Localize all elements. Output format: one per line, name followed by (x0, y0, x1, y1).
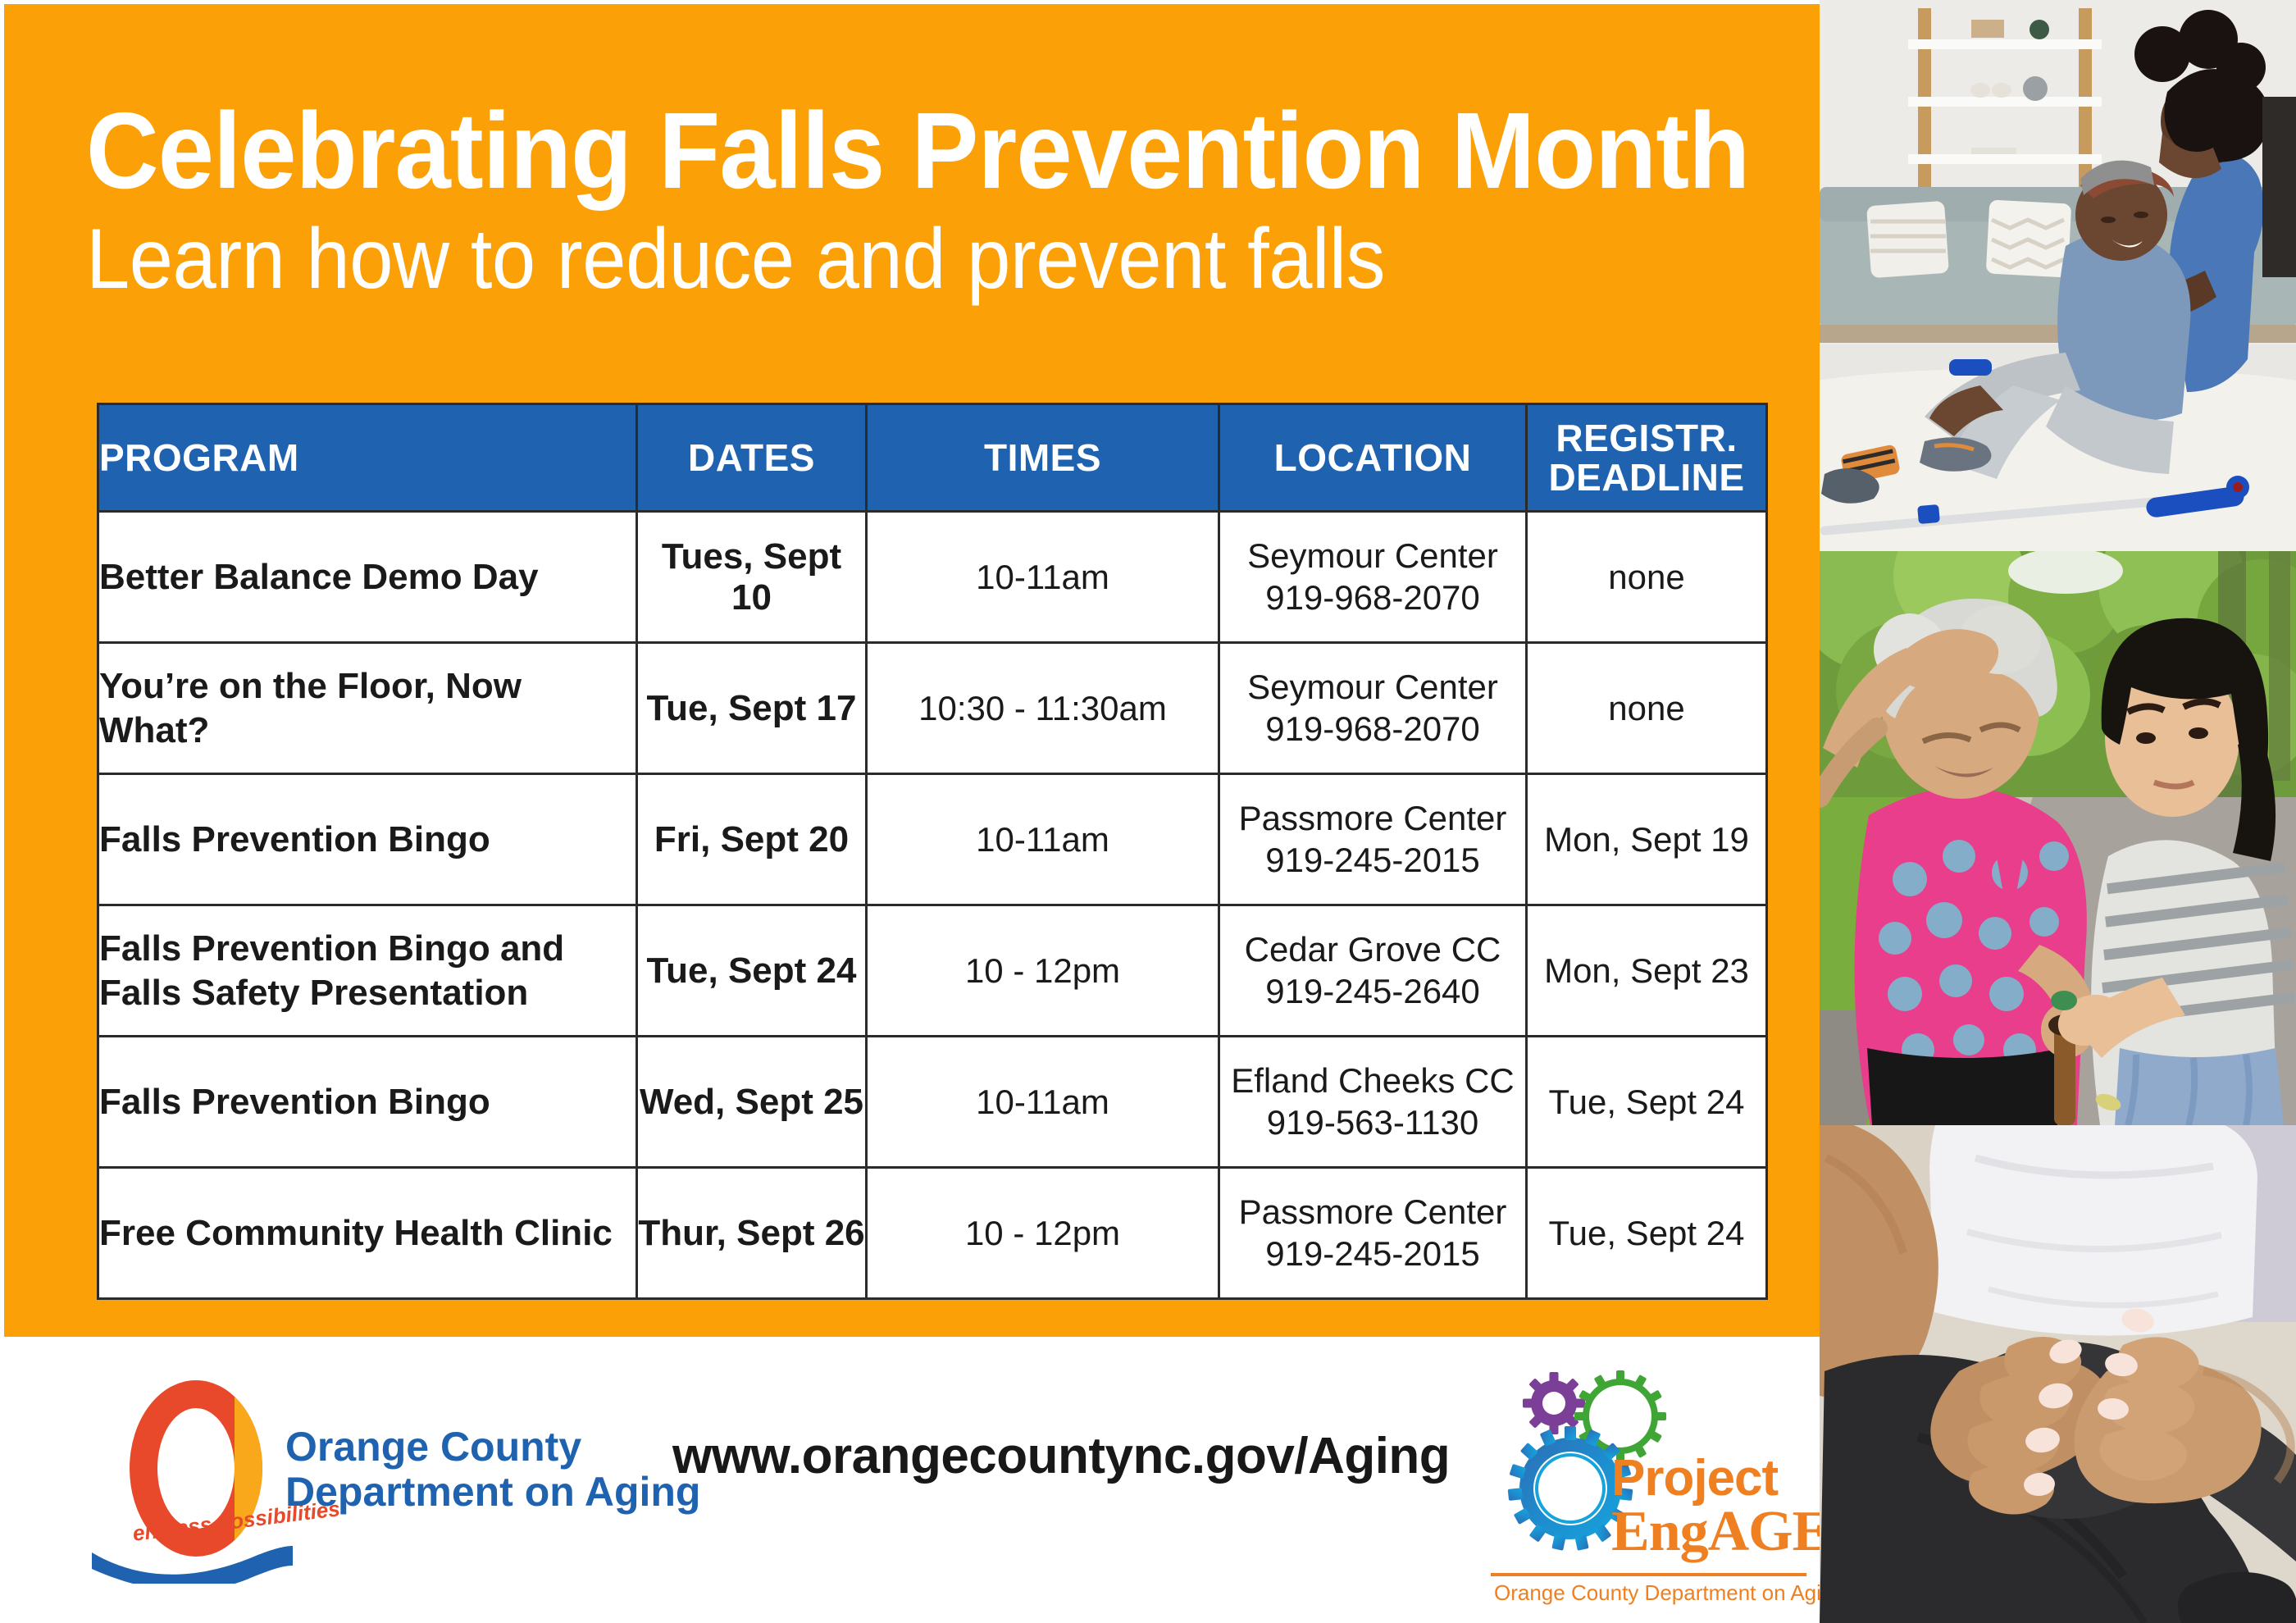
oc-wordmark-line-2: Department on Aging (285, 1470, 700, 1515)
table-row: Falls Prevention Bingo and Falls Safety … (98, 905, 1767, 1037)
project-engage-logo: Project EngAGE Orange County Department … (1476, 1357, 1820, 1603)
schedule-table-container: PROGRAM DATES TIMES LOCATION REGISTR. DE… (97, 403, 1765, 1300)
location-name: Passmore Center (1220, 798, 1525, 839)
location-phone: 919-968-2070 (1220, 577, 1525, 618)
person-holding-painful-knee-photo (1820, 1125, 2296, 1623)
cell-location: Seymour Center 919-968-2070 (1219, 512, 1527, 643)
cell-times: 10-11am (867, 512, 1219, 643)
cell-dates: Tue, Sept 17 (637, 643, 867, 774)
cell-deadline: Tue, Sept 24 (1527, 1168, 1767, 1299)
cell-location: Cedar Grove CC 919-245-2640 (1219, 905, 1527, 1037)
location-phone: 919-968-2070 (1220, 709, 1525, 750)
table-row: Falls Prevention Bingo Wed, Sept 25 10-1… (98, 1037, 1767, 1168)
cell-location: Seymour Center 919-968-2070 (1219, 643, 1527, 774)
table-header-row: PROGRAM DATES TIMES LOCATION REGISTR. DE… (98, 404, 1767, 512)
column-header-dates: DATES (637, 404, 867, 512)
cell-deadline: none (1527, 643, 1767, 774)
column-header-registration-deadline: REGISTR. DEADLINE (1527, 404, 1767, 512)
page-subtitle: Learn how to reduce and prevent falls (86, 213, 1633, 305)
caregiver-helping-fallen-woman-photo (1820, 0, 2296, 551)
photo-column (1820, 0, 2296, 1623)
engage-wordmark-line-2: EngAGE (1611, 1503, 1829, 1561)
location-name: Efland Cheeks CC (1220, 1060, 1525, 1101)
purple-gear-icon (1523, 1372, 1585, 1434)
deadline-header-line-1: REGISTR. (1528, 418, 1765, 458)
cell-times: 10-11am (867, 774, 1219, 905)
location-name: Seymour Center (1220, 667, 1525, 708)
cell-program: Falls Prevention Bingo (98, 1037, 637, 1168)
cell-times: 10 - 12pm (867, 1168, 1219, 1299)
orange-county-logo-wordmark: Orange County Department on Aging (285, 1425, 700, 1515)
table-row: Better Balance Demo Day Tues, Sept 10 10… (98, 512, 1767, 643)
cell-location: Efland Cheeks CC 919-563-1130 (1219, 1037, 1527, 1168)
cell-dates: Tue, Sept 24 (637, 905, 867, 1037)
engage-divider-rule (1491, 1573, 1806, 1576)
location-phone: 919-245-2015 (1220, 1233, 1525, 1274)
cell-deadline: Mon, Sept 23 (1527, 905, 1767, 1037)
location-phone: 919-563-1130 (1220, 1102, 1525, 1143)
cell-deadline: Mon, Sept 19 (1527, 774, 1767, 905)
location-name: Passmore Center (1220, 1192, 1525, 1233)
cell-location: Passmore Center 919-245-2015 (1219, 774, 1527, 905)
column-header-times: TIMES (867, 404, 1219, 512)
deadline-header-line-2: DEADLINE (1528, 458, 1765, 497)
cell-times: 10-11am (867, 1037, 1219, 1168)
blue-swoosh-icon (92, 1541, 293, 1584)
cell-dates: Fri, Sept 20 (637, 774, 867, 905)
events-schedule-table: PROGRAM DATES TIMES LOCATION REGISTR. DE… (97, 403, 1768, 1300)
location-name: Seymour Center (1220, 536, 1525, 577)
website-url[interactable]: www.orangecountync.gov/Aging (672, 1427, 1450, 1485)
orange-county-aging-logo: endless possibilities Orange County Depa… (115, 1357, 623, 1595)
location-phone: 919-245-2640 (1220, 971, 1525, 1012)
table-row: You’re on the Floor, Now What? Tue, Sept… (98, 643, 1767, 774)
column-header-location: LOCATION (1219, 404, 1527, 512)
cell-program: Falls Prevention Bingo (98, 774, 637, 905)
cell-program: You’re on the Floor, Now What? (98, 643, 637, 774)
cell-program: Better Balance Demo Day (98, 512, 637, 643)
cell-times: 10:30 - 11:30am (867, 643, 1219, 774)
cell-times: 10 - 12pm (867, 905, 1219, 1037)
location-phone: 919-245-2015 (1220, 840, 1525, 881)
cell-dates: Wed, Sept 25 (637, 1037, 867, 1168)
cell-program: Falls Prevention Bingo and Falls Safety … (98, 905, 637, 1037)
oc-wordmark-line-1: Orange County (285, 1425, 700, 1470)
engage-wordmark-line-1: Project (1611, 1454, 1829, 1503)
table-row: Falls Prevention Bingo Fri, Sept 20 10-1… (98, 774, 1767, 905)
table-header: PROGRAM DATES TIMES LOCATION REGISTR. DE… (98, 404, 1767, 512)
engage-logo-subtitle: Orange County Department on Aging (1494, 1580, 1814, 1606)
cell-deadline: none (1527, 512, 1767, 643)
table-row: Free Community Health Clinic Thur, Sept … (98, 1168, 1767, 1299)
cell-dates: Thur, Sept 26 (637, 1168, 867, 1299)
cell-program: Free Community Health Clinic (98, 1168, 637, 1299)
elderly-woman-with-cane-dizzy-photo (1820, 551, 2296, 1125)
falls-prevention-poster: Celebrating Falls Prevention Month Learn… (0, 0, 2296, 1623)
cell-location: Passmore Center 919-245-2015 (1219, 1168, 1527, 1299)
column-header-program: PROGRAM (98, 404, 637, 512)
page-title: Celebrating Falls Prevention Month (86, 97, 1650, 205)
table-body: Better Balance Demo Day Tues, Sept 10 10… (98, 512, 1767, 1299)
project-engage-wordmark: Project EngAGE (1611, 1454, 1829, 1561)
cell-dates: Tues, Sept 10 (637, 512, 867, 643)
cell-deadline: Tue, Sept 24 (1527, 1037, 1767, 1168)
headline-block: Celebrating Falls Prevention Month Learn… (86, 97, 1767, 305)
location-name: Cedar Grove CC (1220, 929, 1525, 970)
